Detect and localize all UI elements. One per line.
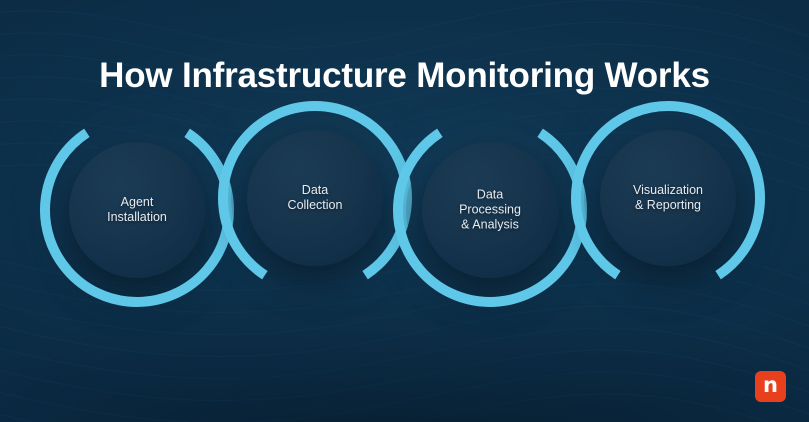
step-label-4: Visualization & Reporting <box>593 183 743 213</box>
logo-glyph: n <box>763 375 778 396</box>
process-step-1: Agent Installation <box>35 108 239 312</box>
process-step-3: Data Processing & Analysis <box>388 108 592 312</box>
process-step-4: Visualization & Reporting <box>566 96 770 300</box>
step-label-3: Data Processing & Analysis <box>415 188 565 233</box>
process-step-2: Data Collection <box>213 96 417 300</box>
page-title: How Infrastructure Monitoring Works <box>0 56 809 96</box>
step-label-2: Data Collection <box>240 183 390 213</box>
step-label-1: Agent Installation <box>62 195 212 225</box>
ninjaone-logo: n <box>755 371 786 402</box>
infographic-canvas: How Infrastructure Monitoring Works Agen… <box>0 0 809 422</box>
